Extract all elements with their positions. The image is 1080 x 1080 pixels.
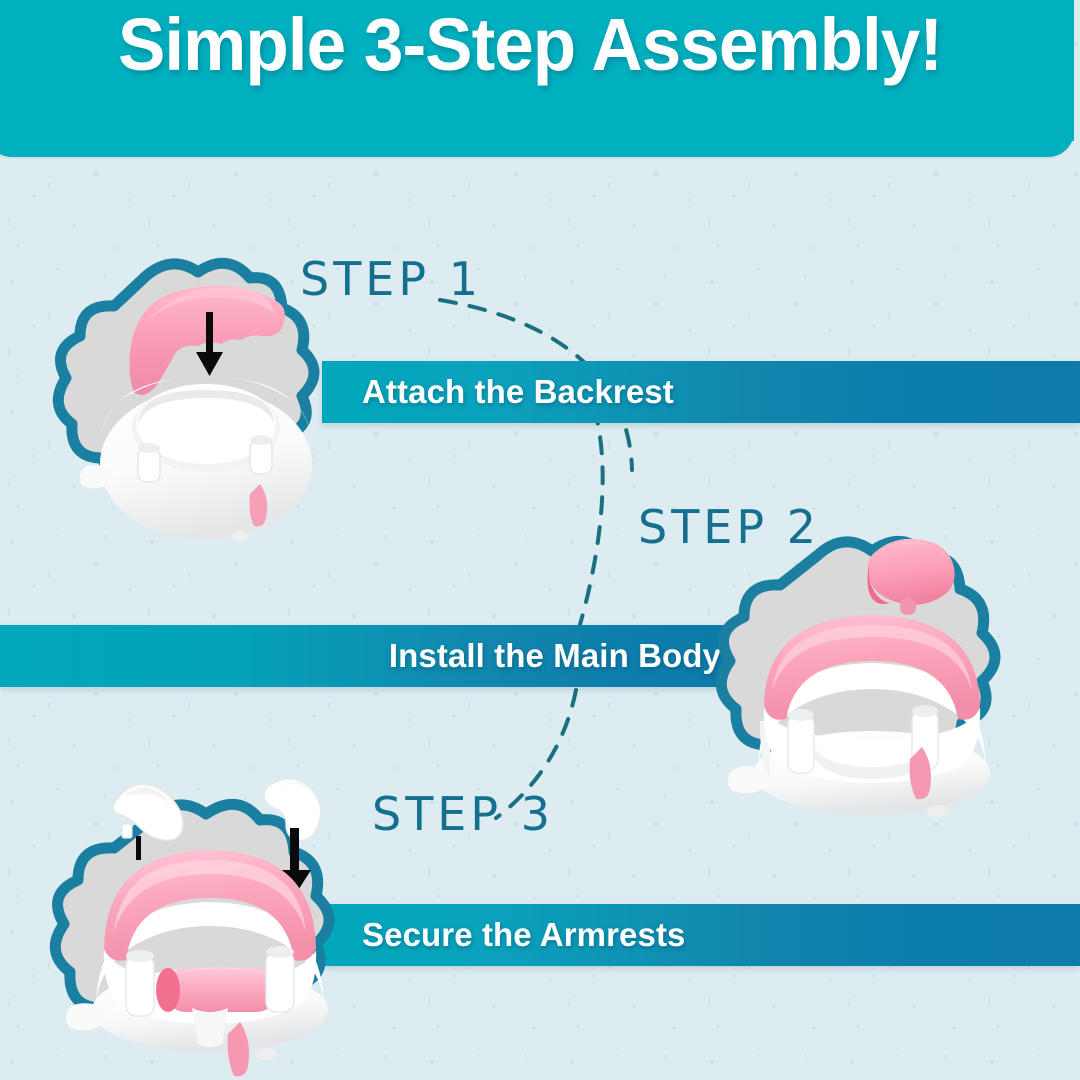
page-title: Simple 3-Step Assembly! — [8, 8, 1052, 82]
step-2-illustration — [700, 525, 1040, 837]
step-band-3-label: Secure the Armrests — [362, 916, 686, 954]
step-3-armrest-part-left — [113, 785, 183, 841]
step-3-illustration — [34, 762, 374, 1080]
step-band-1-label: Attach the Backrest — [362, 373, 674, 411]
step-band-2: Install the Main Body — [0, 625, 755, 687]
step-caption-3-text: STEP 3 — [372, 787, 554, 841]
title-banner: Simple 3-Step Assembly! — [0, 0, 1074, 157]
step-band-1: Attach the Backrest — [322, 361, 1080, 423]
step-3-front-pink-bar — [156, 967, 278, 1012]
infographic-page: Simple 3-Step Assembly! Attach the Backr… — [0, 0, 1080, 1080]
title-banner-right-edge — [1062, 0, 1074, 141]
step-caption-3: STEP 3 — [372, 787, 554, 841]
step-1-illustration — [34, 252, 364, 564]
step-band-3: Secure the Armrests — [322, 904, 1080, 966]
step-band-2-label: Install the Main Body — [389, 637, 721, 675]
step-3-down-arrow-left-icon — [136, 836, 141, 860]
